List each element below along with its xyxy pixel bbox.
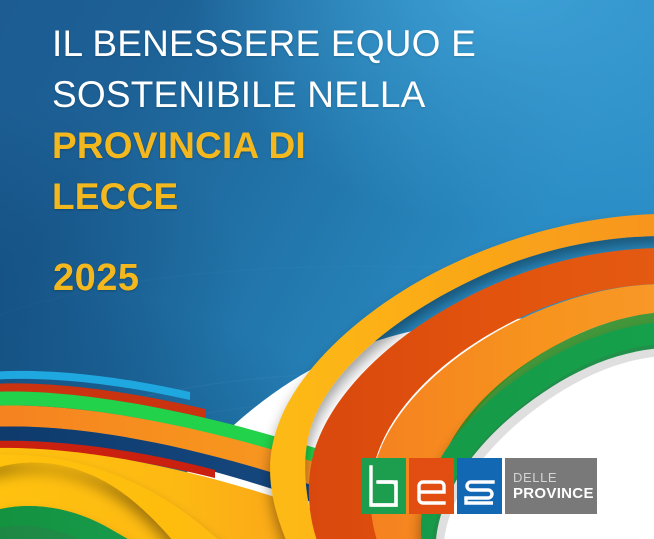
logo-tile-b xyxy=(361,458,406,514)
year-label: 2025 xyxy=(53,256,140,300)
logo-delle-text: DELLE xyxy=(513,471,597,485)
logo-letter-b-icon xyxy=(361,458,406,514)
logo-text-block: DELLE PROVINCE xyxy=(505,458,597,514)
title-line-1: IL BENESSERE EQUO E xyxy=(52,18,572,69)
logo-province-text: PROVINCE xyxy=(513,485,597,502)
logo-letter-e-icon xyxy=(409,458,454,514)
logo-tile-s xyxy=(457,458,502,514)
logo-tile-e xyxy=(409,458,454,514)
title-line-2: SOSTENIBILE NELLA xyxy=(52,69,572,120)
bes-delle-province-logo[interactable]: DELLE PROVINCE xyxy=(361,458,597,514)
logo-letter-s-icon xyxy=(457,458,502,514)
title-line-4: LECCE xyxy=(52,171,572,222)
title-line-3: PROVINCIA DI xyxy=(52,120,572,171)
cover-slide: IL BENESSERE EQUO E SOSTENIBILE NELLA PR… xyxy=(0,0,654,539)
page-title: IL BENESSERE EQUO E SOSTENIBILE NELLA PR… xyxy=(52,18,572,222)
